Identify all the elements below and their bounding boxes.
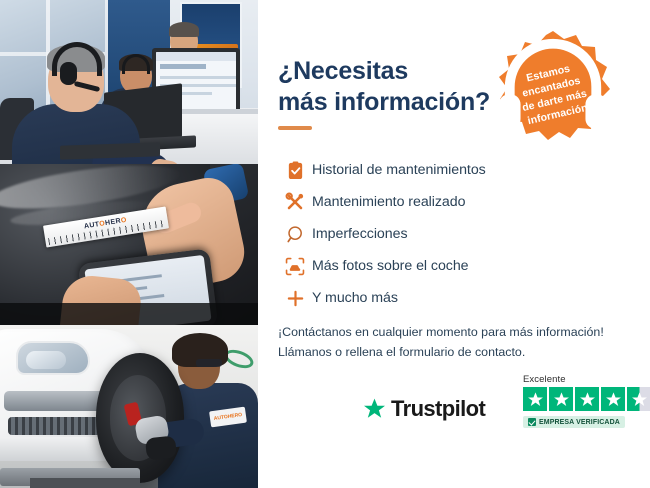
contact-line-1: ¡Contáctanos en cualquier momento para m…	[278, 322, 608, 342]
promo-card: AUTOHERO	[0, 0, 650, 488]
feature-item-maintenance-done: Mantenimiento realizado	[278, 186, 568, 218]
plus-icon	[278, 289, 312, 308]
clipboard-check-icon	[278, 161, 312, 180]
call-center-agents-photo	[0, 0, 258, 164]
star-4	[601, 387, 625, 411]
rating-label: Excelente	[523, 374, 650, 385]
contact-badge: Estamos encantados de darte más informac…	[494, 28, 612, 146]
star-3	[575, 387, 599, 411]
mechanic-wheel-photo: AUTOHERO	[0, 325, 258, 488]
check-icon	[528, 418, 536, 426]
verified-company-badge: EMPRESA VERIFICADA	[523, 416, 625, 428]
feature-item-imperfections: Imperfecciones	[278, 218, 568, 250]
contact-text: ¡Contáctanos en cualquier momento para m…	[278, 322, 608, 362]
feature-item-maintenance-history: Historial de mantenimientos	[278, 154, 568, 186]
headline-line-1: ¿Necesitas	[278, 57, 408, 85]
trustpilot-widget[interactable]: Trustpilot Excelente EMPRESA VERIFICADA	[362, 374, 650, 454]
headline-line-2: más información?	[278, 88, 490, 116]
title-divider	[278, 126, 312, 130]
content-panel: ¿Necesitas más información? Estamos enca…	[258, 0, 650, 488]
feature-list: Historial de mantenimientos Mantenimient…	[278, 154, 568, 314]
trustpilot-star-icon	[362, 397, 387, 421]
contact-line-2: Llámanos o rellena el formulario de cont…	[278, 342, 608, 362]
star-1	[523, 387, 547, 411]
trustpilot-brand: Trustpilot	[391, 396, 485, 422]
verified-label: EMPRESA VERIFICADA	[539, 419, 620, 426]
feature-label: Más fotos sobre el coche	[312, 258, 469, 274]
magnifier-icon	[278, 225, 312, 244]
photo-column: AUTOHERO	[0, 0, 258, 488]
feature-label: Mantenimiento realizado	[312, 194, 465, 210]
star-rating	[523, 387, 650, 411]
trustpilot-rating: Excelente EMPRESA VERIFICADA	[523, 374, 650, 431]
feature-label: Imperfecciones	[312, 226, 408, 242]
car-photo-frame-icon	[278, 257, 312, 276]
feature-label: Y mucho más	[312, 290, 398, 306]
feature-label: Historial de mantenimientos	[312, 162, 486, 178]
tools-icon	[278, 192, 312, 212]
feature-item-much-more: Y mucho más	[278, 282, 568, 314]
feature-item-more-photos: Más fotos sobre el coche	[278, 250, 568, 282]
star-5	[627, 387, 650, 411]
car-inspection-ruler-photo: AUTOHERO	[0, 164, 258, 325]
star-2	[549, 387, 573, 411]
trustpilot-logo: Trustpilot	[362, 396, 485, 422]
